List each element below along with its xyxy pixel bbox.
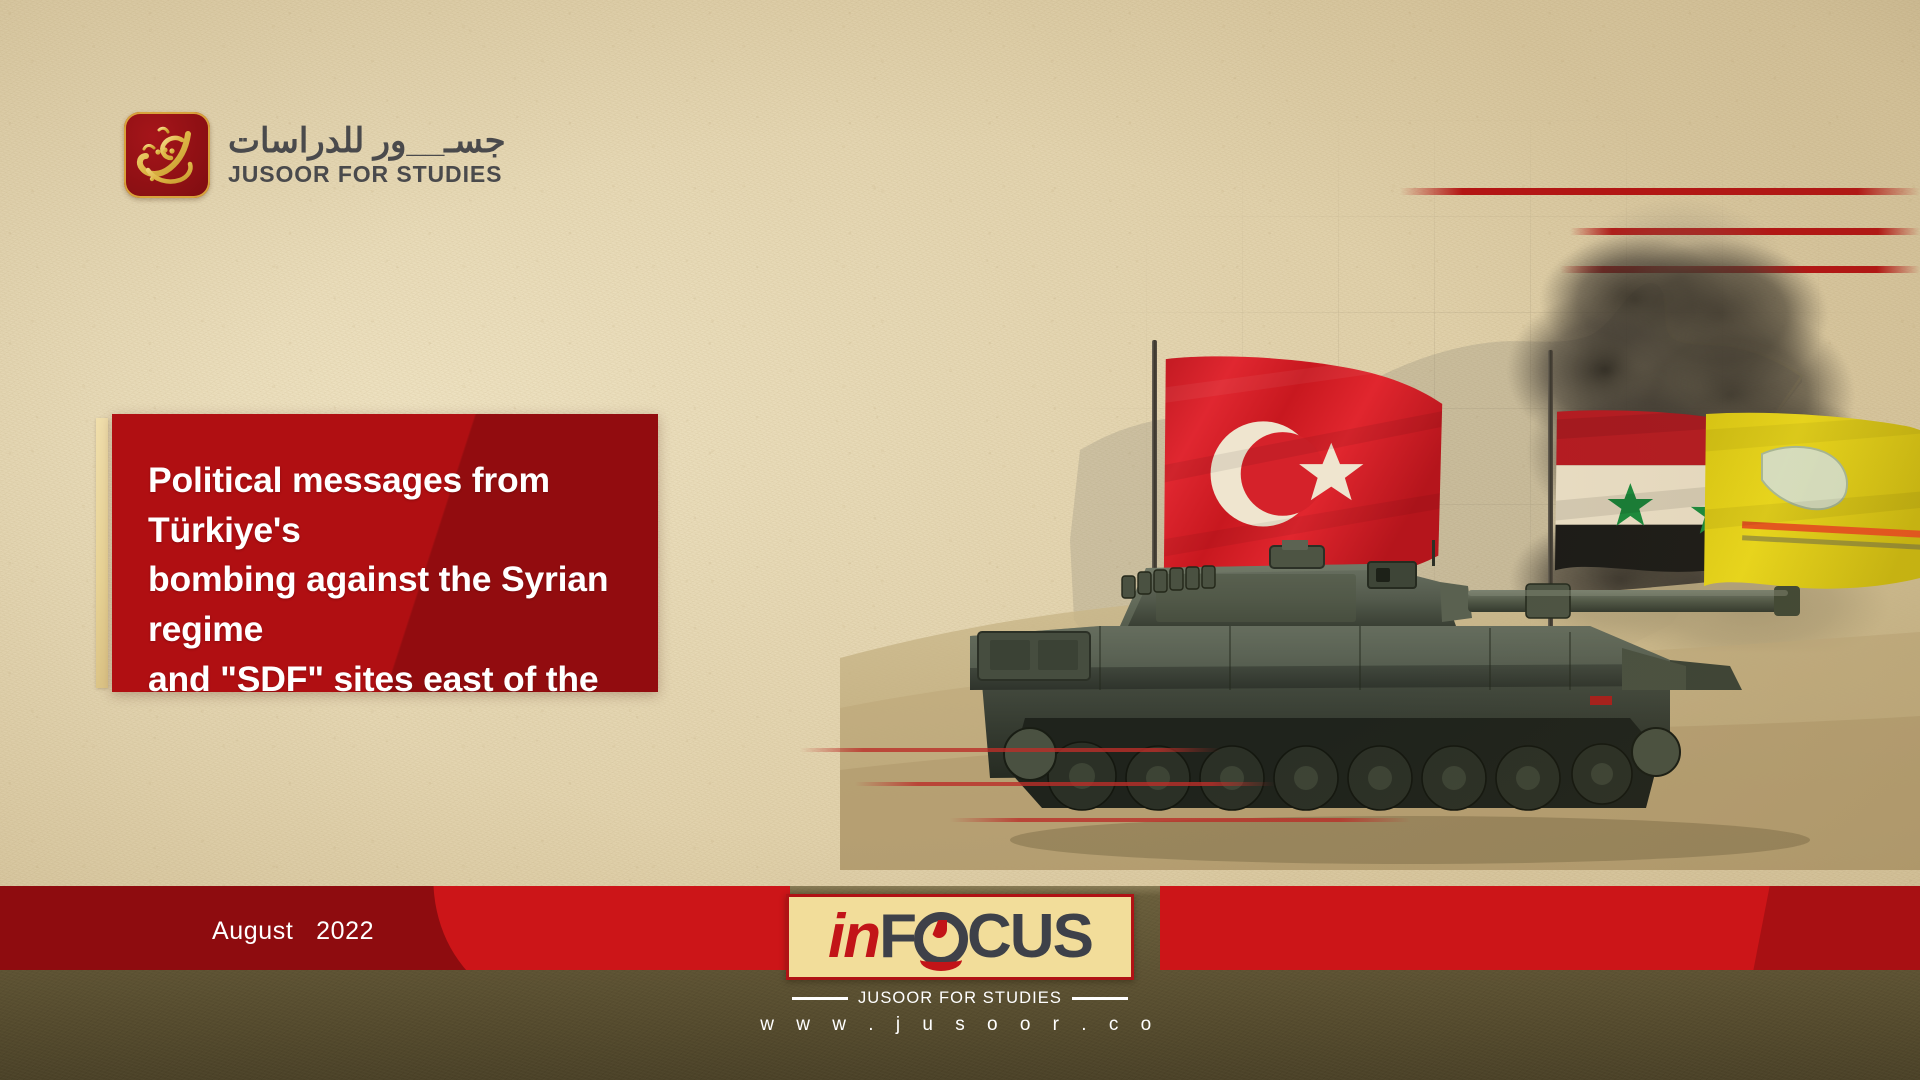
red-strip-swoosh [403, 886, 790, 970]
infocus-logo-box: in F CUS [786, 894, 1134, 980]
headline-accent-bar [96, 418, 108, 688]
focus-target-icon [914, 912, 968, 966]
red-strip-swoosh-2 [1748, 886, 1920, 970]
focus-red-arc [920, 949, 962, 971]
poster-canvas: جسـ__ور للدراسات JUSOOR FOR STUDIES Poli… [0, 0, 1920, 1080]
infocus-logo[interactable]: in F CUS JUSOOR FOR STUDIES [786, 894, 1134, 1008]
infocus-letter-f: F [879, 906, 915, 968]
jusoor-calligraphy-mark [124, 112, 210, 198]
arabic-calligraphy-glyph [124, 112, 210, 198]
brand-text-block: جسـ__ور للدراسات JUSOOR FOR STUDIES [228, 124, 506, 186]
website-url[interactable]: w w w . j u s o o r . c o [760, 1014, 1159, 1036]
tagline-rule-left [792, 997, 848, 1000]
headline-line-3: and "SDF" sites east of the Euphrates [148, 655, 622, 692]
headline-line-1: Political messages from Türkiye's [148, 456, 622, 555]
brand-name-english: JUSOOR FOR STUDIES [228, 163, 506, 186]
footer-red-strip-right [1160, 886, 1920, 970]
brand-name-arabic: جسـ__ور للدراسات [228, 124, 506, 160]
headline-box: Political messages from Türkiye's bombin… [112, 414, 658, 692]
infocus-suffix: CUS [967, 906, 1092, 968]
headline-text: Political messages from Türkiye's bombin… [112, 414, 658, 692]
infocus-wordmark: in F CUS [828, 906, 1092, 968]
tagline-rule-right [1072, 997, 1128, 1000]
infocus-tagline-row: JUSOOR FOR STUDIES [786, 989, 1134, 1008]
brand-logo[interactable]: جسـ__ور للدراسات JUSOOR FOR STUDIES [124, 112, 506, 198]
headline-line-2: bombing against the Syrian regime [148, 555, 622, 654]
publication-date: August 2022 [212, 917, 374, 946]
footer-red-strip-left [0, 886, 790, 970]
infocus-tagline: JUSOOR FOR STUDIES [858, 989, 1062, 1008]
footer-band: August 2022 in F CUS JUSOOR FOR [0, 886, 1920, 1080]
infocus-prefix: in [828, 906, 879, 968]
